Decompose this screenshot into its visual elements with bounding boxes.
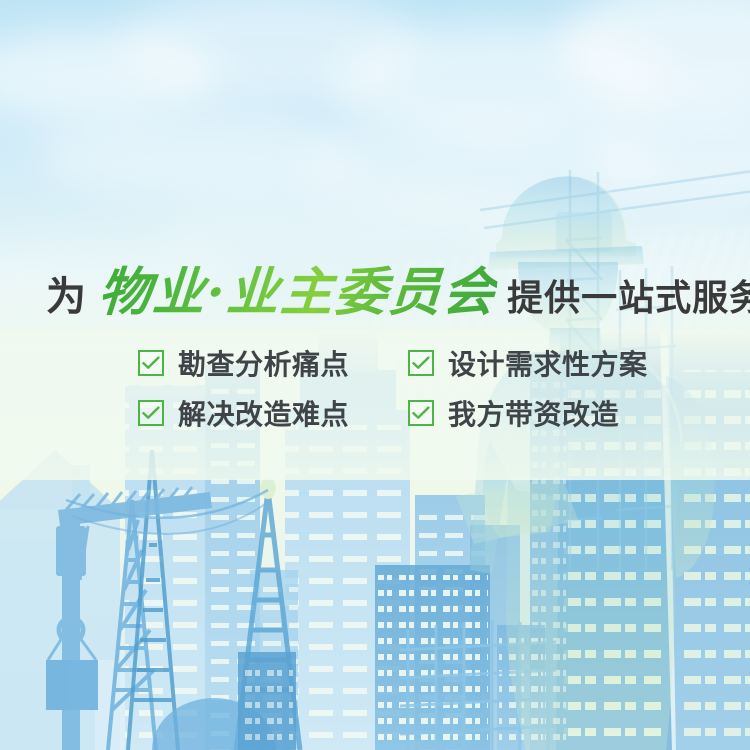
promo-banner: 为 物业·业主委员会 提供一站式服务 勘查分析痛点 设计需求性方 <box>0 0 750 750</box>
feature-label: 解决改造难点 <box>178 393 349 433</box>
feature-item: 解决改造难点 <box>138 388 408 438</box>
feature-label: 我方带资改造 <box>448 393 619 433</box>
feature-item: 我方带资改造 <box>408 388 678 438</box>
feature-label: 设计需求性方案 <box>448 343 648 383</box>
feature-item: 设计需求性方案 <box>408 338 678 388</box>
checkbox-check-icon <box>408 350 434 376</box>
checkbox-check-icon <box>408 400 434 426</box>
headline-prefix: 为 <box>46 264 87 322</box>
feature-label: 勘查分析痛点 <box>178 343 349 383</box>
headline-suffix: 提供一站式服务 <box>507 269 750 321</box>
headline: 为 物业·业主委员会 提供一站式服务 <box>46 250 750 325</box>
headline-brush-text: 物业·业主委员会 <box>96 250 499 325</box>
checkbox-check-icon <box>138 350 164 376</box>
feature-item: 勘查分析痛点 <box>138 338 408 388</box>
banner-content: 为 物业·业主委员会 提供一站式服务 勘查分析痛点 设计需求性方 <box>0 0 750 750</box>
checkbox-check-icon <box>138 400 164 426</box>
feature-list: 勘查分析痛点 设计需求性方案 解决改造难点 <box>138 338 678 438</box>
